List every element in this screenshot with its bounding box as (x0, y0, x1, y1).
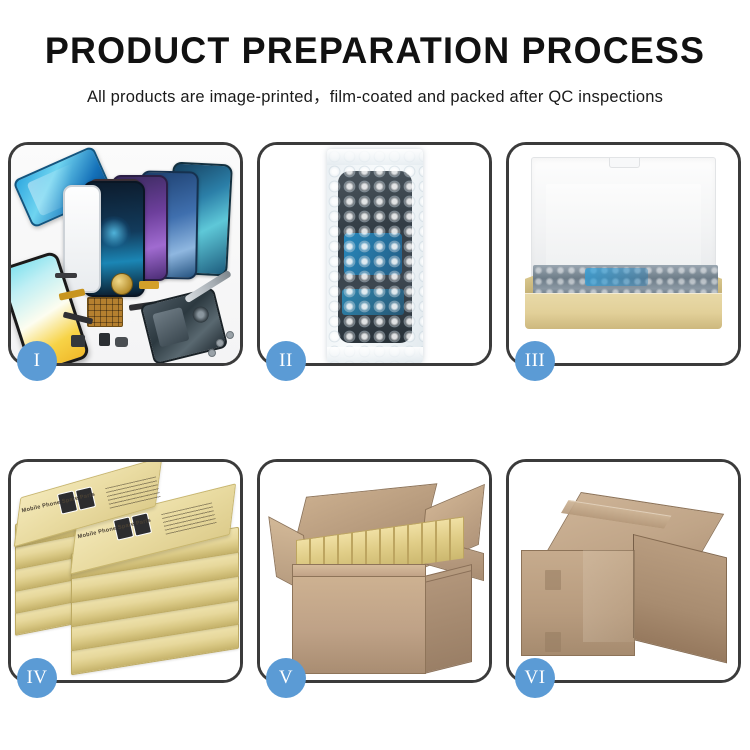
bubble-wrap-texture (327, 149, 423, 363)
packed-box-9 (408, 522, 422, 568)
panel-4-numeral-badge: IV (17, 658, 57, 698)
packed-box-11 (436, 518, 450, 564)
process-panel-3: III (506, 142, 741, 366)
panel-3-image (509, 145, 738, 363)
product-preparation-infographic: PRODUCT PREPARATION PROCESS All products… (0, 0, 750, 750)
panel-3-numeral-badge: III (515, 341, 555, 381)
bubble-wrap-pouch (327, 149, 423, 363)
carton-side-panel (424, 570, 472, 674)
speaker-part-3 (115, 337, 128, 347)
mailer-front-panel (525, 293, 722, 329)
open-mailer-box (525, 157, 722, 329)
panel-6-numeral-badge: VI (515, 658, 555, 698)
panel-1-image (11, 145, 240, 363)
carton-front-panel (292, 576, 426, 674)
page-title: PRODUCT PREPARATION PROCESS (11, 30, 739, 73)
packed-box-10 (422, 520, 436, 566)
pouch-seal-top (327, 149, 423, 165)
connector-chip-part (87, 297, 123, 327)
pouch-seal-bottom (327, 347, 423, 363)
process-panel-4: Mobile Phone Spare Parts Mobile Phone Sp… (8, 459, 243, 683)
panel-5-image (260, 462, 489, 680)
carton-corner-seam (633, 534, 634, 638)
screw-part-3 (208, 349, 216, 357)
flex-cable-5 (55, 273, 77, 278)
screw-part-1 (216, 339, 224, 347)
speaker-coil-part (111, 273, 133, 295)
packing-tape-front (583, 550, 635, 642)
page-subtitle: All products are image-printed，film-coat… (0, 83, 750, 107)
sealed-shipping-carton (521, 492, 731, 668)
speaker-part-1 (71, 335, 85, 347)
flex-cable-4 (139, 281, 159, 289)
panel-6-image (509, 462, 738, 680)
packed-box-12 (450, 516, 464, 562)
open-shipping-carton (270, 484, 484, 674)
carton-handle-tab-1 (545, 570, 561, 590)
panel-5-numeral-badge: V (266, 658, 306, 698)
process-panel-6: VI (506, 459, 741, 683)
carton-handle-tab-2 (545, 632, 561, 652)
panel-2-numeral-badge: II (266, 341, 306, 381)
header: PRODUCT PREPARATION PROCESS All products… (0, 30, 750, 107)
speaker-part-2 (99, 333, 110, 346)
screw-part-2 (226, 331, 234, 339)
process-panel-grid: I II (8, 142, 742, 683)
panel-4-image: Mobile Phone Spare Parts Mobile Phone Sp… (11, 462, 240, 680)
carton-right-face (633, 534, 727, 663)
panel-1-numeral-badge: I (17, 341, 57, 381)
panel-2-image (260, 145, 489, 363)
process-panel-2: II (257, 142, 492, 366)
stacked-retail-boxes: Mobile Phone Spare Parts Mobile Phone Sp… (15, 476, 240, 676)
process-panel-5: V (257, 459, 492, 683)
process-panel-1: I (8, 142, 243, 366)
